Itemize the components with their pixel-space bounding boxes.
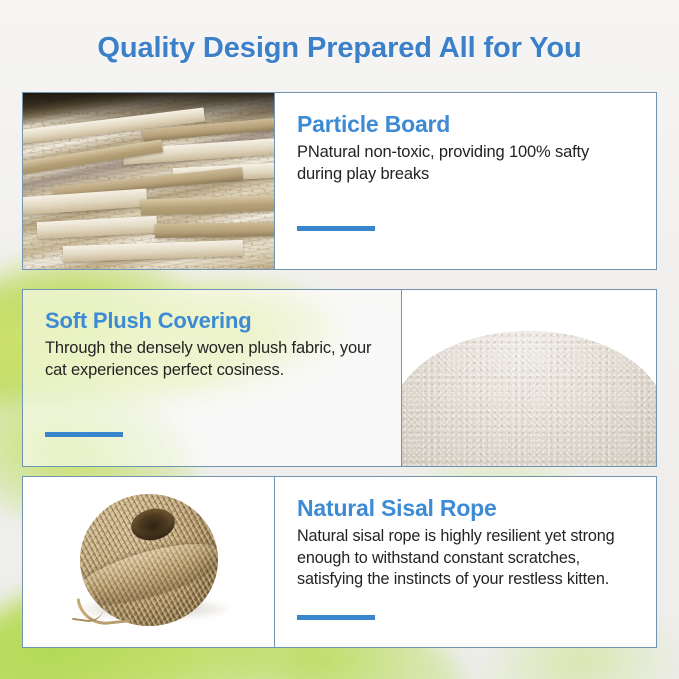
plush-fabric-photo (401, 290, 656, 466)
sisal-rope-ball-photo (23, 477, 275, 647)
card-text-panel: Soft Plush Covering Through the densely … (23, 290, 401, 466)
page-title: Quality Design Prepared All for You (0, 32, 679, 65)
accent-bar (45, 432, 123, 437)
card-text-panel: Particle Board PNatural non-toxic, provi… (275, 93, 656, 269)
card-body-text: PNatural non-toxic, providing 100% safty… (297, 142, 634, 186)
accent-bar (297, 615, 375, 620)
feature-card-natural-sisal-rope: Natural Sisal Rope Natural sisal rope is… (22, 476, 657, 648)
card-body-text: Through the densely woven plush fabric, … (45, 338, 379, 382)
feature-card-particle-board: Particle Board PNatural non-toxic, provi… (22, 92, 657, 270)
infographic-page: Quality Design Prepared All for You Part… (0, 0, 679, 679)
particle-board-image (23, 93, 274, 269)
card-title: Soft Plush Covering (45, 308, 379, 334)
sisal-rope-image (23, 477, 274, 647)
board-plank (155, 222, 275, 238)
card-body-text: Natural sisal rope is highly resilient y… (297, 526, 634, 591)
plush-fabric-image (402, 290, 656, 466)
plush-texture (401, 331, 656, 466)
particle-board-photo (23, 93, 275, 269)
feature-card-soft-plush-covering: Soft Plush Covering Through the densely … (22, 289, 657, 467)
accent-bar (297, 226, 375, 231)
card-title: Particle Board (297, 111, 634, 138)
card-title: Natural Sisal Rope (297, 495, 634, 522)
plush-dome-shape (401, 331, 656, 466)
card-text-panel: Natural Sisal Rope Natural sisal rope is… (275, 477, 656, 647)
